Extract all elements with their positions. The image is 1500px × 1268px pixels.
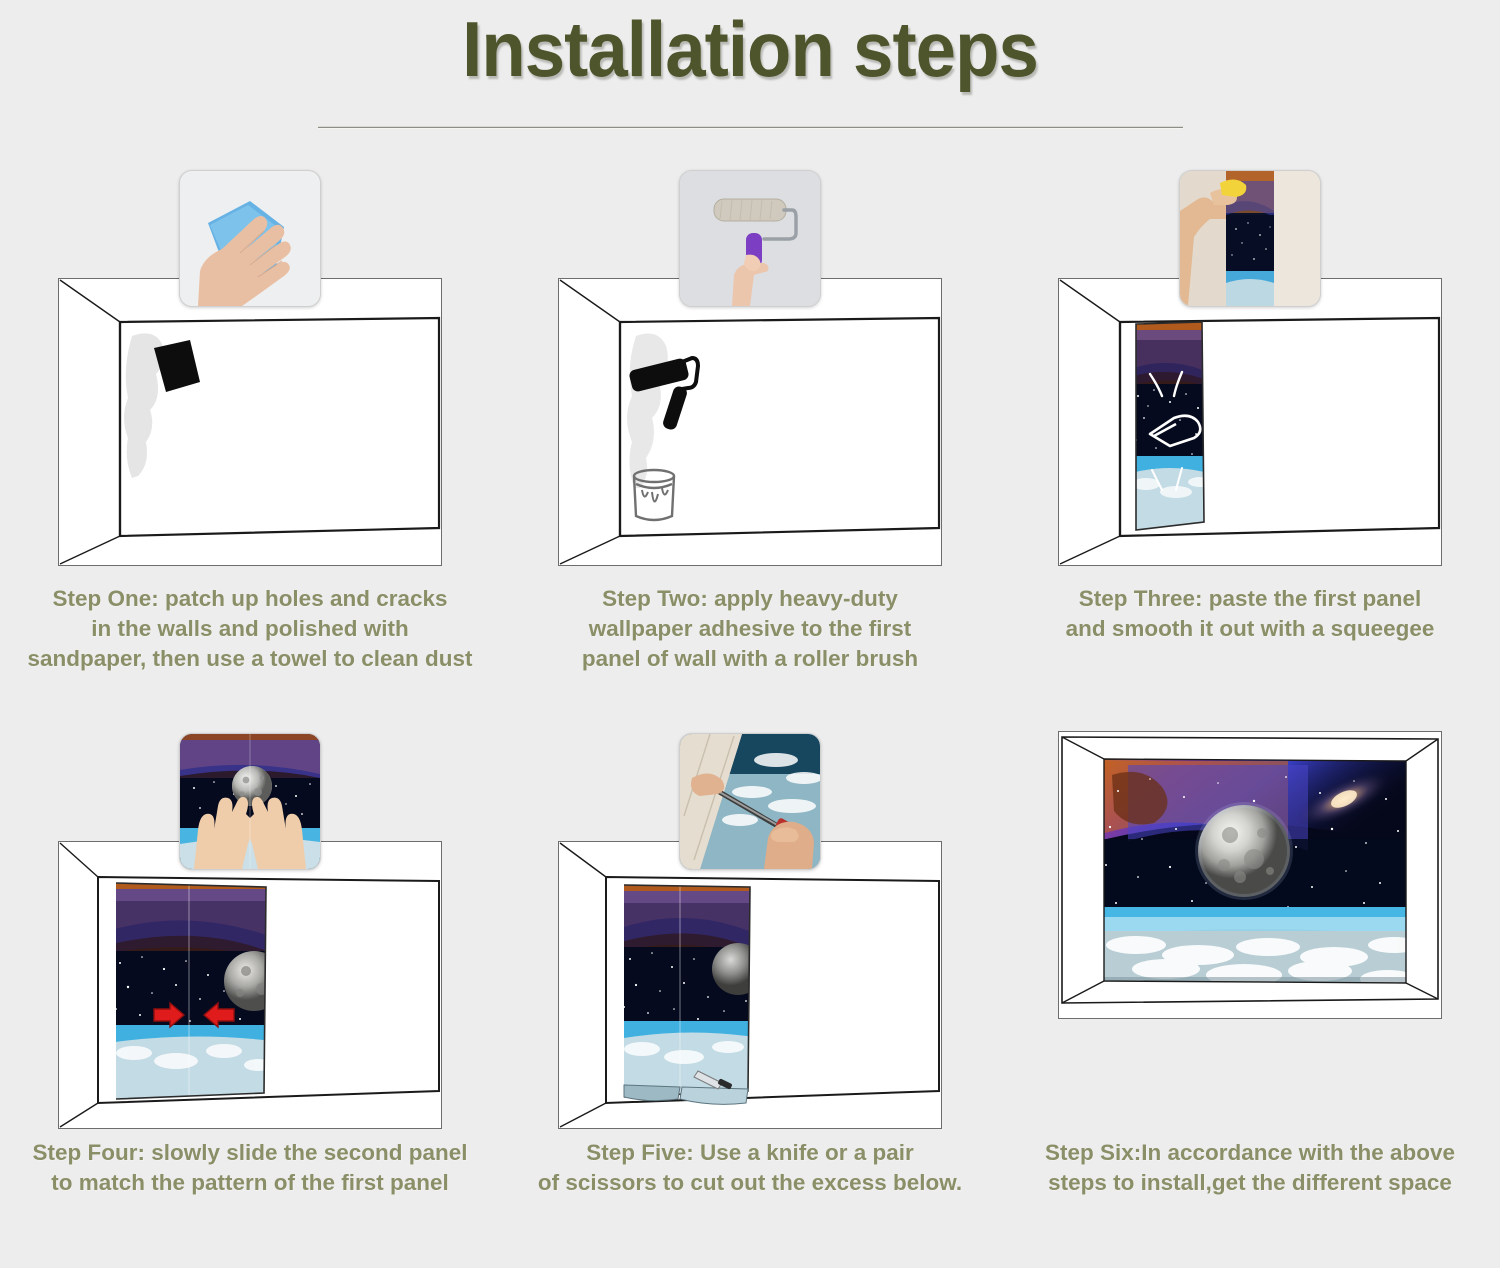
step-three-caption: Step Three: paste the first panel and sm… xyxy=(1000,584,1500,644)
step-five-photo xyxy=(679,733,821,870)
knife-cutting-photo xyxy=(680,734,820,869)
hands-smoothing-illustration xyxy=(180,734,320,869)
step-four-photo xyxy=(179,733,321,870)
step-six-room-diagram xyxy=(1058,731,1442,1019)
step-one-caption: Step One: patch up holes and cracks in t… xyxy=(0,584,500,674)
step-four-room-diagram xyxy=(58,841,442,1129)
step-five-caption: Step Five: Use a knife or a pair of scis… xyxy=(500,1138,1000,1198)
step-card-two: Step Two: apply heavy-duty wallpaper adh… xyxy=(500,160,1000,705)
hand-wiping-illustration xyxy=(180,171,320,306)
step-three-photo xyxy=(1179,170,1321,307)
room-perspective-outline xyxy=(558,278,942,566)
squeegee-photo xyxy=(1180,171,1320,306)
step-one-photo xyxy=(179,170,321,307)
installation-steps-infographic: Installation steps xyxy=(0,0,1500,1263)
room-perspective-outline xyxy=(1058,278,1442,566)
two-hands-photo xyxy=(180,734,320,869)
page-title: Installation steps xyxy=(53,4,1448,95)
step-one-room-diagram xyxy=(58,278,442,566)
hand-cloth-photo xyxy=(180,171,320,306)
excess-flap-right xyxy=(680,1087,748,1104)
step-card-five: Step Five: Use a knife or a pair of scis… xyxy=(500,723,1000,1268)
step-two-room-diagram xyxy=(558,278,942,566)
step-three-room-diagram xyxy=(1058,278,1442,566)
step-six-caption: Step Six:In accordance with the above st… xyxy=(1000,1138,1500,1198)
step-two-caption: Step Two: apply heavy-duty wallpaper adh… xyxy=(500,584,1000,674)
steps-grid: Step One: patch up holes and cracks in t… xyxy=(0,160,1500,1268)
excess-flap-left xyxy=(624,1085,680,1101)
paint-roller-illustration xyxy=(680,171,820,306)
cutting-excess-illustration xyxy=(680,734,820,869)
step-two-photo xyxy=(679,170,821,307)
step-five-room-diagram xyxy=(558,841,942,1129)
steps-row-bottom: Step Four: slowly slide the second panel… xyxy=(0,723,1500,1268)
room-with-completed-mural xyxy=(1058,731,1442,1019)
applying-panel-illustration xyxy=(1180,171,1320,306)
room-perspective-outline xyxy=(58,278,442,566)
title-divider xyxy=(318,126,1183,129)
room-perspective-outline xyxy=(58,841,442,1129)
space-panels-two xyxy=(108,879,284,1105)
step-card-four: Step Four: slowly slide the second panel… xyxy=(0,723,500,1268)
room-perspective-outline xyxy=(558,841,942,1129)
paint-roller-photo xyxy=(680,171,820,306)
step-four-caption: Step Four: slowly slide the second panel… xyxy=(0,1138,500,1198)
step-card-three: Step Three: paste the first panel and sm… xyxy=(1000,160,1500,705)
space-panels-with-excess xyxy=(618,881,764,1101)
steps-row-top: Step One: patch up holes and cracks in t… xyxy=(0,160,1500,705)
step-card-six: Step Six:In accordance with the above st… xyxy=(1000,723,1500,1268)
step-card-one: Step One: patch up holes and cracks in t… xyxy=(0,160,500,705)
space-mural-complete xyxy=(1098,755,1420,991)
